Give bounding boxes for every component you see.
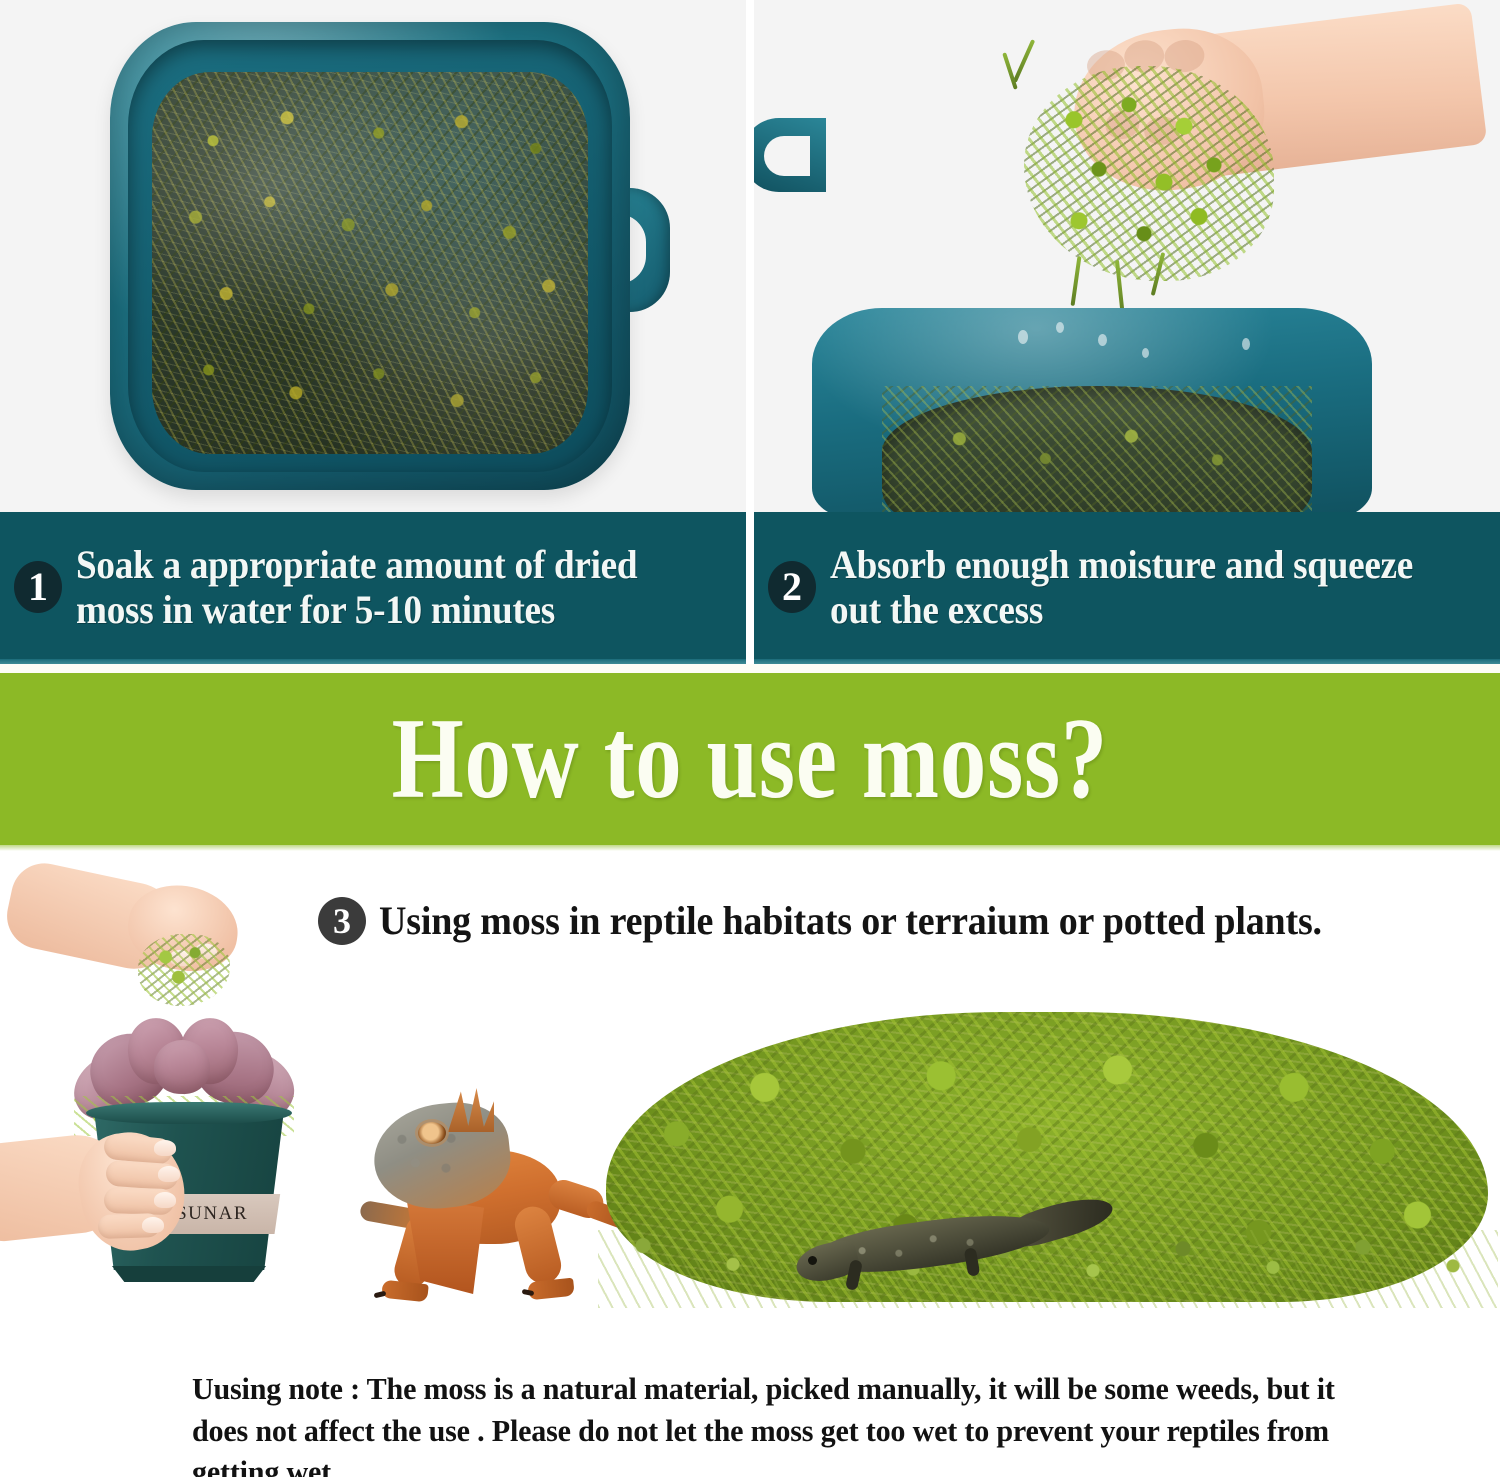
fingernail bbox=[154, 1192, 176, 1208]
succulent-center-petal bbox=[153, 1039, 211, 1095]
iguana-eye bbox=[418, 1122, 446, 1144]
water-droplet bbox=[1098, 334, 1107, 346]
pot-label-brand: SUNAR bbox=[176, 1203, 248, 1225]
moss-in-water bbox=[882, 386, 1312, 512]
fingernail bbox=[154, 1140, 176, 1156]
page-title: How to use moss? bbox=[392, 701, 1109, 817]
hand-squeezing bbox=[904, 8, 1484, 258]
moss-strand bbox=[1071, 256, 1082, 306]
squeezed-moss-clump bbox=[1024, 66, 1274, 281]
iguana-foot bbox=[527, 1278, 575, 1301]
moss-strand bbox=[1013, 39, 1035, 83]
caption-divider bbox=[746, 512, 754, 664]
water-droplet bbox=[1056, 322, 1064, 333]
usage-note: Uusing note : The moss is a natural mate… bbox=[192, 1368, 1337, 1477]
step-text-2: Absorb enough moisture and squeeze out t… bbox=[830, 543, 1440, 633]
fingernail bbox=[142, 1217, 164, 1233]
iguana-foot bbox=[381, 1280, 429, 1303]
title-banner: How to use moss? bbox=[0, 673, 1500, 845]
caption-step-1: 1 Soak a appropriate amount of dried mos… bbox=[0, 512, 746, 664]
water-droplet bbox=[1142, 348, 1149, 358]
top-photo-row bbox=[0, 0, 1500, 512]
photo-divider bbox=[746, 0, 754, 512]
step-badge-2: 2 bbox=[768, 561, 816, 613]
banner-shadow bbox=[0, 845, 1500, 851]
step-3-header: 3 Using moss in reptile habitats or terr… bbox=[0, 890, 1500, 952]
photo-step-2-squeezing-hand bbox=[754, 0, 1500, 512]
teal-basin-lower bbox=[812, 308, 1372, 512]
caption-row: 1 Soak a appropriate amount of dried mos… bbox=[0, 512, 1500, 664]
basin-water-lower bbox=[882, 386, 1312, 512]
water-droplet bbox=[1018, 330, 1028, 344]
fingernail bbox=[158, 1166, 180, 1182]
step-badge-1: 1 bbox=[14, 561, 62, 613]
infographic-page: 1 Soak a appropriate amount of dried mos… bbox=[0, 0, 1500, 1477]
step-text-3: Using moss in reptile habitats or terrai… bbox=[379, 901, 1322, 941]
salamander-figure bbox=[790, 1186, 1110, 1296]
salamander-eye bbox=[808, 1256, 817, 1265]
pot-foot bbox=[112, 1266, 266, 1282]
moss-strand bbox=[1002, 52, 1018, 89]
hand-holding-pot bbox=[0, 1118, 186, 1268]
step-text-1: Soak a appropriate amount of dried moss … bbox=[76, 543, 686, 633]
iguana-claw bbox=[374, 1291, 387, 1299]
step-badge-3: 3 bbox=[318, 897, 366, 945]
water-gloss bbox=[152, 72, 588, 454]
basin-water bbox=[152, 72, 588, 454]
banner-top-gap bbox=[0, 664, 1500, 673]
basin-handle-lower bbox=[754, 118, 826, 192]
caption-step-2: 2 Absorb enough moisture and squeeze out… bbox=[754, 512, 1500, 664]
photo-step-1-soaking-basin bbox=[0, 0, 746, 512]
water-droplet bbox=[1242, 338, 1250, 350]
